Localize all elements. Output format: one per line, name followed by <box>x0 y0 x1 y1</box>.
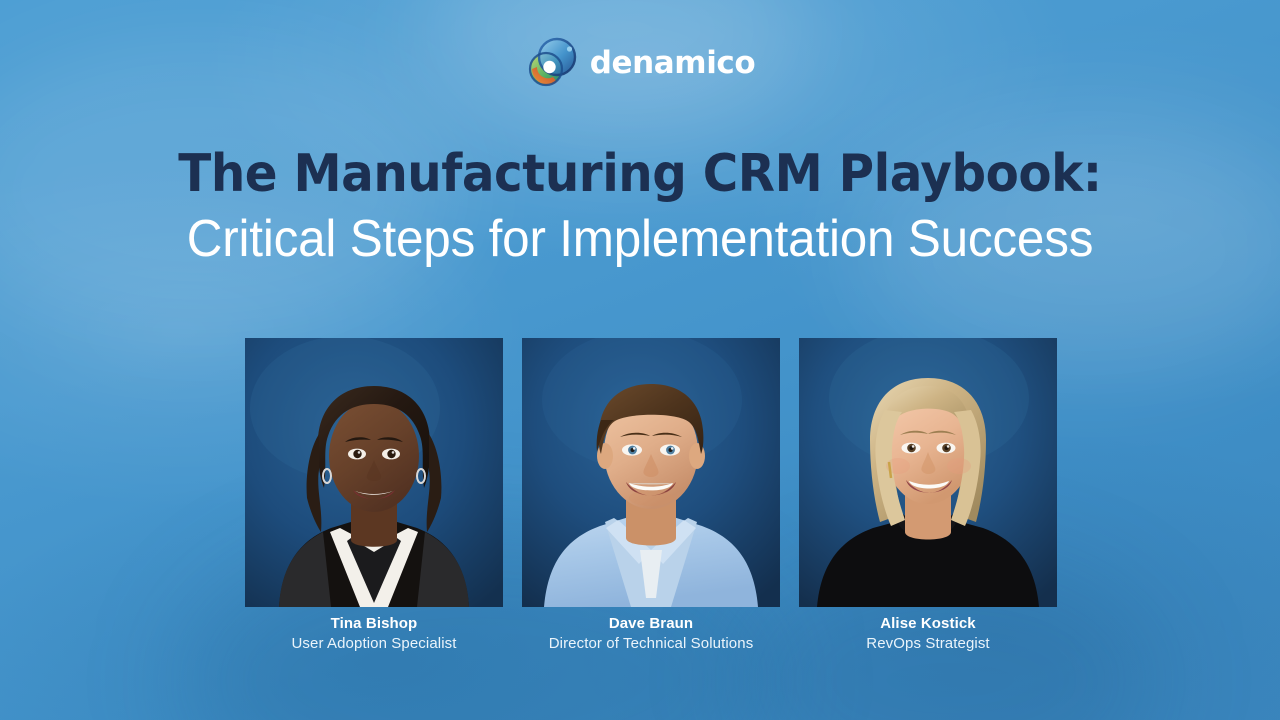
speaker-meta: Tina Bishop User Adoption Specialist <box>245 615 503 653</box>
speaker-role: User Adoption Specialist <box>245 634 503 653</box>
speaker-meta: Alise Kostick RevOps Strategist <box>799 615 1057 653</box>
speaker-card: Tina Bishop User Adoption Specialist <box>245 338 503 653</box>
headshot-illustration-1 <box>245 338 503 607</box>
speaker-role: RevOps Strategist <box>799 634 1057 653</box>
page-title: The Manufacturing CRM Playbook: Critical… <box>0 145 1280 271</box>
speaker-name: Alise Kostick <box>799 615 1057 634</box>
speaker-role: Director of Technical Solutions <box>522 634 780 653</box>
speaker-card: Dave Braun Director of Technical Solutio… <box>522 338 780 653</box>
speaker-photo <box>799 338 1057 607</box>
speaker-name: Dave Braun <box>522 615 780 634</box>
speaker-name: Tina Bishop <box>245 615 503 634</box>
speaker-list: Tina Bishop User Adoption Specialist <box>245 338 1036 653</box>
denamico-circles-icon <box>525 36 579 90</box>
title-line-2: Critical Steps for Implementation Succes… <box>32 209 1248 270</box>
headshot-illustration-2 <box>522 338 780 607</box>
speaker-photo <box>522 338 780 607</box>
speaker-photo <box>245 338 503 607</box>
title-line-1: The Manufacturing CRM Playbook: <box>45 145 1235 203</box>
brand-logo: denamico <box>0 36 1280 90</box>
speaker-card: Alise Kostick RevOps Strategist <box>799 338 1057 653</box>
webinar-title-slide: denamico The Manufacturing CRM Playbook:… <box>0 0 1280 720</box>
brand-name: denamico <box>590 48 756 79</box>
speaker-meta: Dave Braun Director of Technical Solutio… <box>522 615 780 653</box>
headshot-illustration-3 <box>799 338 1057 607</box>
